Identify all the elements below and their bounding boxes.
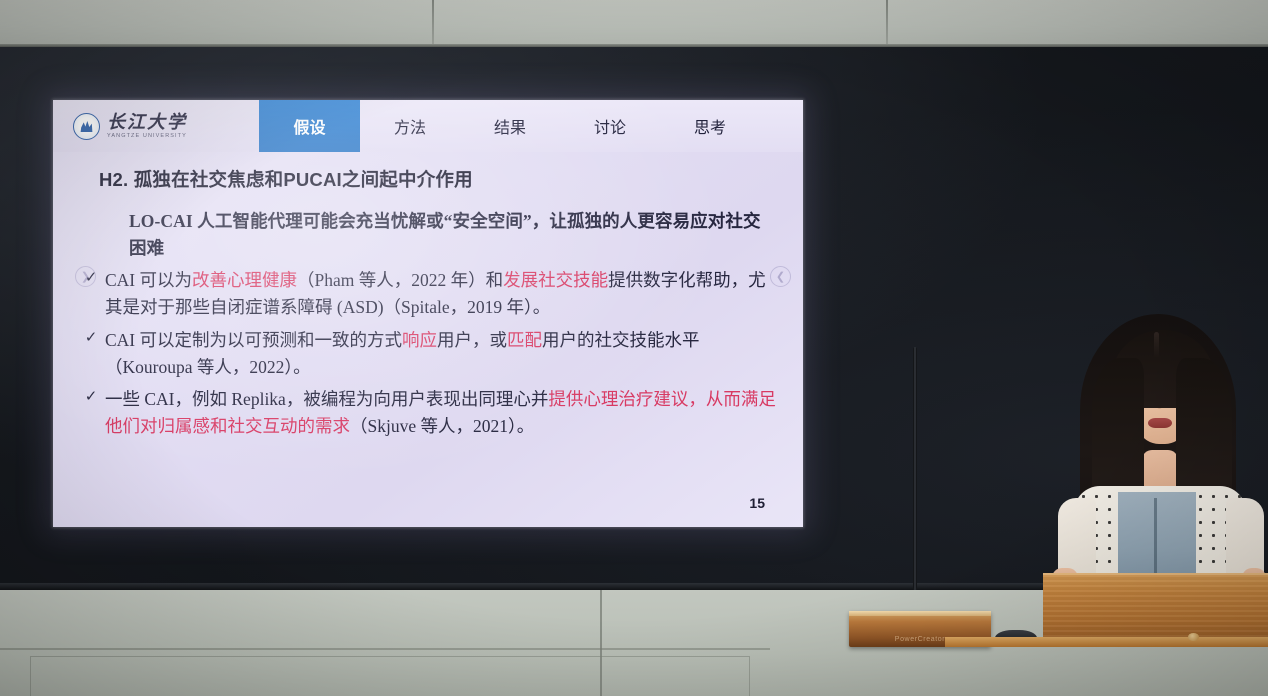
highlighted-phrase: 响应 bbox=[402, 330, 437, 350]
plain-phrase: 一些 CAI，例如 Replika，被编程为向用户表现出同理心并 bbox=[105, 389, 548, 409]
plain-phrase: （Pham 等人，2022 年）和 bbox=[297, 270, 503, 290]
presenter bbox=[1050, 300, 1268, 590]
tab-hypothesis[interactable]: 假设 bbox=[259, 100, 360, 152]
wall-panel-top bbox=[0, 0, 1268, 47]
cabinet-panel bbox=[30, 656, 750, 696]
hair-parting bbox=[1154, 332, 1159, 358]
highlighted-phrase: 他们对归属感和社交互动的需求 bbox=[105, 416, 350, 436]
microphone-stand bbox=[913, 347, 917, 590]
brand-name-en: YANGTZE UNIVERSITY bbox=[107, 134, 187, 140]
slide-page-number: 15 bbox=[749, 495, 765, 511]
highlighted-phrase: 改善心理健康 bbox=[192, 270, 297, 290]
bullet-text: CAI 可以定制为以可预测和一致的方式响应用户，或匹配用户的社交技能水平（Kou… bbox=[105, 327, 783, 381]
tab-results[interactable]: 结果 bbox=[460, 100, 560, 152]
wall-seam bbox=[886, 0, 888, 47]
tab-reflection[interactable]: 思考 bbox=[660, 100, 760, 152]
plain-phrase: CAI 可以定制为以可预测和一致的方式 bbox=[105, 330, 402, 350]
highlighted-phrase: 匹配 bbox=[507, 330, 542, 350]
university-brand: 长江大学 YANGTZE UNIVERSITY bbox=[53, 100, 259, 152]
wall-seam bbox=[432, 0, 434, 47]
bullet-list: ✓CAI 可以为改善心理健康（Pham 等人，2022 年）和发展社交技能提供数… bbox=[83, 267, 783, 440]
laptop-lid-edge bbox=[849, 611, 991, 616]
lead-paragraph: LO-CAI 人工智能代理可能会充当忧解或“安全空间”，让孤独的人更容易应对社交… bbox=[129, 208, 775, 262]
university-crest-icon bbox=[73, 113, 100, 140]
checkmark-icon: ✓ bbox=[83, 386, 99, 440]
bullet-item: ✓CAI 可以定制为以可预测和一致的方式响应用户，或匹配用户的社交技能水平（Ko… bbox=[83, 327, 783, 381]
slide-title: H2. 孤独在社交焦虑和PUCAI之间起中介作用 bbox=[99, 166, 473, 192]
lecture-scene: 长江大学 YANGTZE UNIVERSITY 假设 方法 结果 讨论 思考 H… bbox=[0, 0, 1268, 696]
podium-ledge bbox=[945, 637, 1268, 647]
mouth bbox=[1148, 418, 1172, 428]
chevron-left-icon[interactable]: ❮ bbox=[770, 266, 791, 287]
bullet-item: ✓一些 CAI，例如 Replika，被编程为向用户表现出同理心并提供心理治疗建… bbox=[83, 386, 783, 440]
projected-slide: 长江大学 YANGTZE UNIVERSITY 假设 方法 结果 讨论 思考 H… bbox=[53, 100, 803, 527]
checkmark-icon: ✓ bbox=[83, 327, 99, 381]
podium bbox=[1043, 573, 1268, 639]
highlighted-phrase: 提供心理治疗建议，从而满足 bbox=[548, 389, 776, 409]
podium-knob bbox=[1188, 633, 1199, 641]
bullet-item: ✓CAI 可以为改善心理健康（Pham 等人，2022 年）和发展社交技能提供数… bbox=[83, 267, 783, 321]
slide-body: LO-CAI 人工智能代理可能会充当忧解或“安全空间”，让孤独的人更容易应对社交… bbox=[83, 208, 783, 440]
plain-phrase: CAI 可以为 bbox=[105, 270, 192, 290]
bullet-text: CAI 可以为改善心理健康（Pham 等人，2022 年）和发展社交技能提供数字… bbox=[105, 267, 783, 321]
tab-discussion[interactable]: 讨论 bbox=[560, 100, 660, 152]
brand-text: 长江大学 YANGTZE UNIVERSITY bbox=[107, 113, 187, 140]
chevron-right-icon[interactable]: ❯ bbox=[75, 266, 96, 287]
tab-method[interactable]: 方法 bbox=[360, 100, 460, 152]
plain-phrase: （Skjuve 等人，2021）。 bbox=[350, 416, 534, 436]
bullet-text: 一些 CAI，例如 Replika，被编程为向用户表现出同理心并提供心理治疗建议… bbox=[105, 386, 783, 440]
highlighted-phrase: 发展社交技能 bbox=[503, 270, 608, 290]
slide-navbar: 长江大学 YANGTZE UNIVERSITY 假设 方法 结果 讨论 思考 bbox=[53, 100, 803, 152]
plain-phrase: 用户，或 bbox=[437, 330, 507, 350]
brand-name-cn: 长江大学 bbox=[107, 113, 187, 131]
